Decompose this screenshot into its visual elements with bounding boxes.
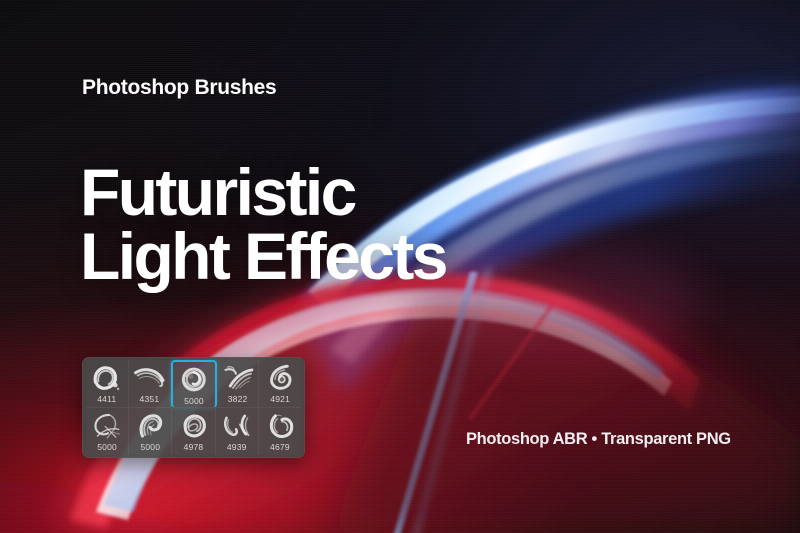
- brush-label: 4679: [270, 442, 290, 452]
- brush-layered-loop-icon: [172, 409, 214, 442]
- brush-ring-scratch-icon: [86, 409, 128, 442]
- brush-label: 5000: [140, 442, 160, 452]
- brush-label: 5000: [184, 396, 204, 406]
- brush-cell-4351[interactable]: 4351: [129, 360, 172, 408]
- format-note: Photoshop ABR • Transparent PNG: [466, 430, 731, 449]
- brush-label: 4921: [270, 394, 290, 404]
- brush-swirl-crescent-icon: [86, 361, 128, 394]
- brush-palette-panel[interactable]: 4411 4351: [82, 357, 305, 458]
- brush-spiral-orb-icon: [173, 363, 215, 396]
- brush-twin-claw-icon: [216, 409, 258, 442]
- brush-label: 4939: [227, 442, 247, 452]
- brush-cell-4978[interactable]: 4978: [172, 408, 215, 456]
- brush-label: 4978: [184, 442, 204, 452]
- brush-cell-4679[interactable]: 4679: [259, 408, 301, 456]
- brush-crescent-hook-icon: [259, 409, 301, 442]
- brush-cell-5000-a[interactable]: 5000: [86, 408, 129, 456]
- brush-row-1: 4411 4351: [86, 360, 301, 408]
- brush-wave-curl-icon: [129, 409, 171, 442]
- brush-cell-4939[interactable]: 4939: [216, 408, 259, 456]
- brush-label: 3822: [228, 394, 248, 404]
- brush-feather-wing-icon: [217, 361, 259, 394]
- brush-cell-5000-selected[interactable]: 5000: [171, 360, 217, 408]
- brush-label: 4411: [97, 394, 116, 404]
- brush-nested-spiral-icon: [259, 361, 301, 394]
- page-title-line-1: Futuristic: [80, 160, 446, 224]
- brush-row-2: 5000 5000: [86, 408, 301, 456]
- poster-canvas: Photoshop Brushes Futuristic Light Effec…: [0, 0, 800, 533]
- brush-arc-sweep-icon: [129, 361, 171, 394]
- page-title-line-2: Light Effects: [80, 224, 446, 288]
- brush-cell-4921[interactable]: 4921: [259, 360, 301, 408]
- brush-label: 4351: [140, 394, 160, 404]
- brush-cell-5000-b[interactable]: 5000: [129, 408, 172, 456]
- brush-cell-4411[interactable]: 4411: [86, 360, 129, 408]
- brush-cell-3822[interactable]: 3822: [217, 360, 260, 408]
- brush-label: 5000: [97, 442, 117, 452]
- page-title: Futuristic Light Effects: [80, 160, 446, 288]
- eyebrow-label: Photoshop Brushes: [82, 76, 276, 100]
